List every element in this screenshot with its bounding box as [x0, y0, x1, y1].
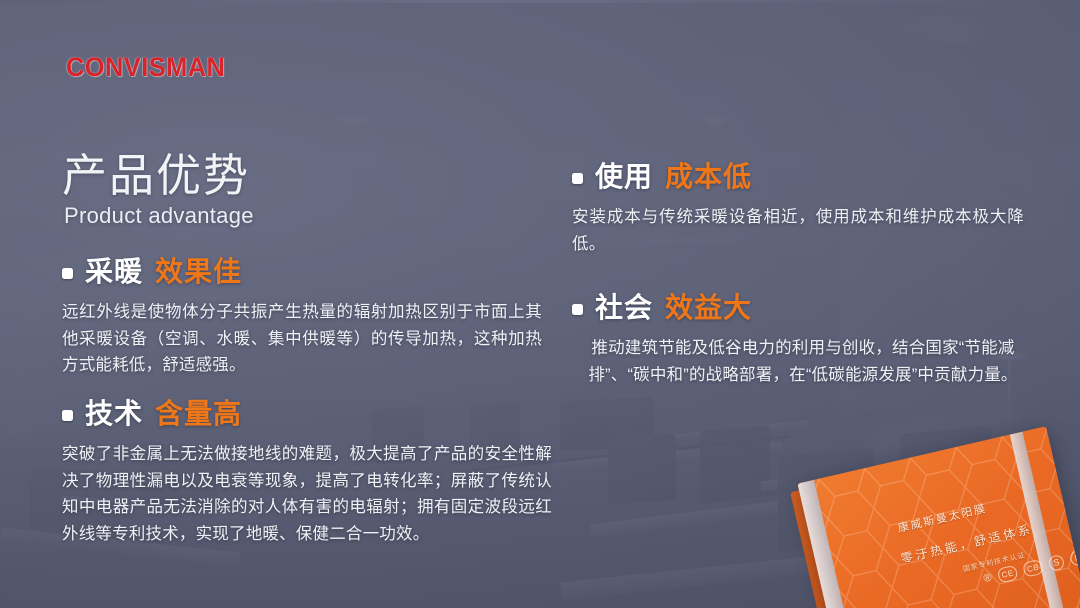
- section-body: 远红外线是使物体分子共振产生热量的辐射加热区别于市面上其他采暖设备（空调、水暖、…: [62, 299, 542, 379]
- section-usage-cost: 使用 成本低 安装成本与传统采暖设备相近，使用成本和维护成本极大降低。: [572, 163, 1024, 257]
- heading-white-part: 采暖: [85, 258, 143, 286]
- heading-white-part: 技术: [85, 400, 143, 428]
- bullet-square-icon: [62, 410, 73, 421]
- section-body: 推动建筑节能及低谷电力的利用与创收，结合国家“节能减排”、“碳中和”的战略部署，…: [572, 335, 1034, 388]
- heading-orange-part: 成本低: [665, 163, 752, 191]
- section-technology-content: 技术 含量高 突破了非金属上无法做接地线的难题，极大提高了产品的安全性解决了物理…: [62, 400, 552, 548]
- page-subtitle: Product advantage: [64, 203, 254, 229]
- page-title: 产品优势: [62, 152, 250, 201]
- section-heading: 采暖 效果佳: [62, 258, 542, 286]
- heading-orange-part: 效益大: [665, 294, 752, 322]
- bullet-square-icon: [572, 304, 583, 315]
- bullet-square-icon: [62, 268, 73, 279]
- section-social-benefit: 社会 效益大 推动建筑节能及低谷电力的利用与创收，结合国家“节能减排”、“碳中和…: [572, 294, 1034, 388]
- heading-orange-part: 效果佳: [155, 258, 242, 286]
- slide-canvas: 康威斯曼太阳膜 零汙热能，舒适体系 国家专利技术认证 ® CE CB S N C…: [0, 0, 1080, 608]
- section-heating-effect: 采暖 效果佳 远红外线是使物体分子共振产生热量的辐射加热区别于市面上其他采暖设备…: [62, 258, 542, 379]
- section-heading: 社会 效益大: [572, 294, 1034, 322]
- section-body: 安装成本与传统采暖设备相近，使用成本和维护成本极大降低。: [572, 204, 1024, 257]
- section-heading: 使用 成本低: [572, 163, 1024, 191]
- heading-white-part: 社会: [595, 294, 653, 322]
- bullet-square-icon: [572, 173, 583, 184]
- heading-orange-part: 含量高: [155, 400, 242, 428]
- section-heading: 技术 含量高: [62, 400, 552, 428]
- heading-white-part: 使用: [595, 163, 653, 191]
- section-body: 突破了非金属上无法做接地线的难题，极大提高了产品的安全性解决了物理性漏电以及电衰…: [62, 441, 552, 548]
- brand-logo: CONVISMAN: [66, 52, 225, 83]
- slide-content: CONVISMAN 产品优势 Product advantage 采暖 效果佳 …: [0, 0, 1080, 608]
